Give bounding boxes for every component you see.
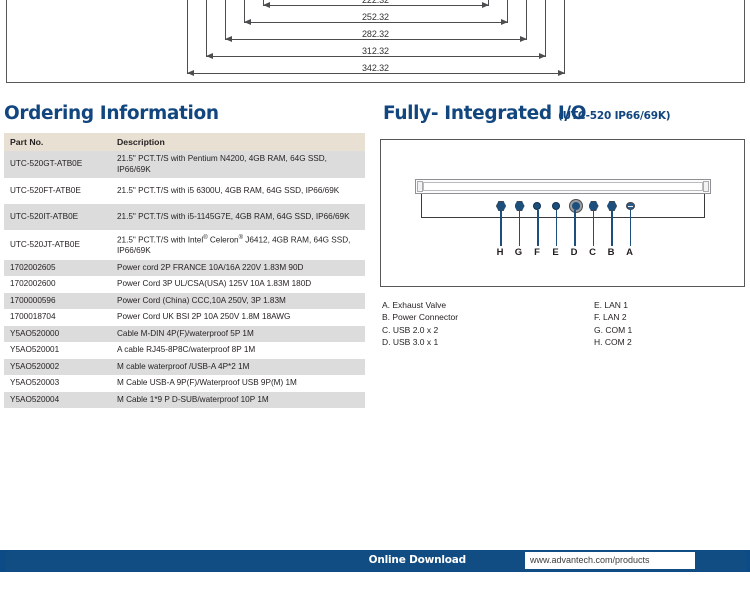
cell-description: 21.5" PCT.T/S with Intel® Celeron® J6412…	[111, 230, 365, 260]
dimension-value-label: 252.32	[244, 12, 508, 22]
cell-part-no: Y5AO520004	[4, 392, 111, 409]
io-legend-item: B. Power Connector	[382, 311, 458, 323]
table-row: 1700000596Power Cord (China) CCC,10A 250…	[4, 293, 365, 310]
io-diagram-panel	[380, 139, 745, 287]
table-header-row: Part No. Description	[4, 133, 365, 151]
table-row: 1700018704Power Cord UK BSI 2P 10A 250V …	[4, 309, 365, 326]
io-callout-letter: G	[515, 247, 522, 258]
io-callout-letter: A	[626, 247, 633, 258]
table-row: Y5AO520000Cable M-DIN 4P(F)/waterproof 5…	[4, 326, 365, 343]
dimension-line: 312.32	[206, 40, 546, 57]
ordering-table-body: UTC-520GT-ATB0E21.5" PCT.T/S with Pentiu…	[4, 151, 365, 408]
cell-description: Power Cord 3P UL/CSA(USA) 125V 10A 1.83M…	[111, 276, 365, 293]
cell-part-no: 1700018704	[4, 309, 111, 326]
column-header-part-no: Part No.	[4, 133, 111, 151]
table-row: Y5AO520002M cable waterproof /USB-A 4P*2…	[4, 359, 365, 376]
callout-leader-line	[630, 210, 632, 246]
cell-description: Power Cord (China) CCC,10A 250V, 3P 1.83…	[111, 293, 365, 310]
io-callout-letter: F	[534, 247, 540, 258]
io-callout-letter: E	[552, 247, 558, 258]
io-legend-item: E. LAN 1	[594, 299, 632, 311]
online-download-label: Online Download	[369, 554, 466, 566]
cell-description: Cable M-DIN 4P(F)/waterproof 5P 1M	[111, 326, 365, 343]
io-legend-column-right: E. LAN 1F. LAN 2G. COM 1H. COM 2	[594, 299, 632, 348]
callout-leader-line	[500, 210, 502, 246]
table-row: UTC-520IT-ATB0E21.5" PCT.T/S with i5-114…	[4, 204, 365, 230]
table-row: UTC-520JT-ATB0E21.5" PCT.T/S with Intel®…	[4, 230, 365, 260]
dimension-line: 252.32	[244, 6, 508, 23]
cell-description: M Cable 1*9 P D-SUB/waterproof 10P 1M	[111, 392, 365, 409]
callout-leader-line	[519, 210, 521, 246]
dimension-value-label: 312.32	[206, 46, 546, 56]
cell-part-no: UTC-520JT-ATB0E	[4, 230, 111, 260]
cell-description: 21.5" PCT.T/S with i5 6300U, 4GB RAM, 64…	[111, 178, 365, 204]
bezel-inner-face	[423, 182, 703, 191]
device-bezel-illustration	[415, 179, 711, 194]
callout-leader-line	[537, 210, 539, 246]
table-row: UTC-520GT-ATB0E21.5" PCT.T/S with Pentiu…	[4, 151, 365, 178]
io-callout-letter-row: HGFEDCBA	[380, 247, 745, 259]
cell-description: M Cable USB-A 9P(F)/Waterproof USB 9P(M)…	[111, 375, 365, 392]
cell-part-no: 1702002605	[4, 260, 111, 277]
io-legend-column-left: A. Exhaust ValveB. Power ConnectorC. USB…	[382, 299, 458, 348]
cell-part-no: Y5AO520003	[4, 375, 111, 392]
io-connector-row	[501, 201, 633, 213]
io-legend-item: H. COM 2	[594, 336, 632, 348]
io-callout-letter: D	[571, 247, 578, 258]
cell-part-no: UTC-520IT-ATB0E	[4, 204, 111, 230]
table-row: Y5AO520003M Cable USB-A 9P(F)/Waterproof…	[4, 375, 365, 392]
io-callout-letter: C	[589, 247, 596, 258]
lan-port-connector-icon	[552, 202, 560, 210]
cell-part-no: Y5AO520001	[4, 342, 111, 359]
callout-leader-line	[611, 210, 613, 246]
io-legend-item: F. LAN 2	[594, 311, 632, 323]
io-callout-letter: B	[608, 247, 615, 258]
cell-description: Power cord 2P FRANCE 10A/16A 220V 1.83M …	[111, 260, 365, 277]
table-row: Y5AO520004M Cable 1*9 P D-SUB/waterproof…	[4, 392, 365, 409]
dimension-stack: 162.32192.32222.32252.32282.32312.32342.…	[166, 0, 586, 74]
table-row: UTC-520FT-ATB0E21.5" PCT.T/S with i5 630…	[4, 178, 365, 204]
ordering-information-heading: Ordering Information	[4, 103, 219, 124]
dimension-value-label: 342.32	[187, 63, 565, 73]
table-row: Y5AO520001A cable RJ45-8P8C/waterproof 8…	[4, 342, 365, 359]
cell-description: A cable RJ45-8P8C/waterproof 8P 1M	[111, 342, 365, 359]
ordering-information-table: Part No. Description UTC-520GT-ATB0E21.5…	[4, 133, 365, 408]
io-legend-item: G. COM 1	[594, 324, 632, 336]
footer-url-link[interactable]: www.advantech.com/products	[530, 555, 650, 565]
io-section-heading: Fully- Integrated I/O	[383, 103, 586, 124]
io-callout-letter: H	[497, 247, 504, 258]
cell-description: M cable waterproof /USB-A 4P*2 1M	[111, 359, 365, 376]
cell-part-no: Y5AO520000	[4, 326, 111, 343]
dimension-line: 342.32	[187, 57, 565, 74]
usb3-port-connector-icon	[570, 200, 582, 212]
cell-part-no: UTC-520FT-ATB0E	[4, 178, 111, 204]
cell-part-no: 1702002600	[4, 276, 111, 293]
callout-leader-line	[556, 210, 558, 246]
cell-description: 21.5" PCT.T/S with Pentium N4200, 4GB RA…	[111, 151, 365, 178]
exhaust-valve-icon	[626, 202, 635, 210]
dimension-arrow-line	[187, 73, 565, 74]
dimension-value-label: 222.32	[263, 0, 489, 5]
callout-leader-line	[593, 210, 595, 246]
cell-description: Power Cord UK BSI 2P 10A 250V 1.8M 18AWG	[111, 309, 365, 326]
cell-part-no: UTC-520GT-ATB0E	[4, 151, 111, 178]
dimension-drawing-panel: 162.32192.32222.32252.32282.32312.32342.…	[6, 0, 745, 83]
table-row: 1702002605Power cord 2P FRANCE 10A/16A 2…	[4, 260, 365, 277]
cell-part-no: 1700000596	[4, 293, 111, 310]
cell-description: 21.5" PCT.T/S with i5-1145G7E, 4GB RAM, …	[111, 204, 365, 230]
io-legend-item: C. USB 2.0 x 2	[382, 324, 458, 336]
io-legend-item: A. Exhaust Valve	[382, 299, 458, 311]
table-row: 1702002600Power Cord 3P UL/CSA(USA) 125V…	[4, 276, 365, 293]
cell-part-no: Y5AO520002	[4, 359, 111, 376]
callout-leader-line	[574, 210, 576, 246]
dimension-line: 282.32	[225, 23, 527, 40]
product-datasheet-page: 162.32192.32222.32252.32282.32312.32342.…	[0, 0, 750, 591]
column-header-description: Description	[111, 133, 365, 151]
io-legend-item: D. USB 3.0 x 1	[382, 336, 458, 348]
io-section-subheading: (UTC-520 IP66/69K)	[558, 110, 670, 122]
lan-port-connector-icon	[533, 202, 541, 210]
dimension-value-label: 282.32	[225, 29, 527, 39]
